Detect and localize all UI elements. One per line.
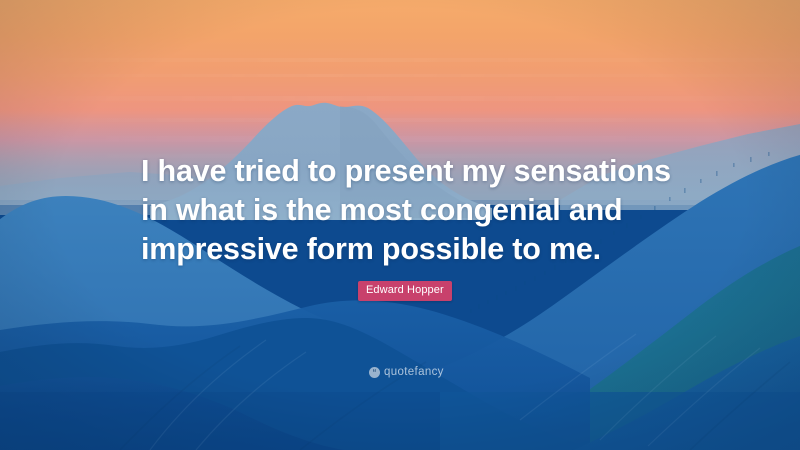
quote-line-1: I have tried to present my sensations — [141, 152, 681, 191]
quote-text: I have tried to present my sensations in… — [141, 152, 681, 269]
quote-line-2: in what is the most congenial and — [141, 191, 681, 230]
quote-image-canvas: I have tried to present my sensations in… — [0, 0, 800, 450]
quote-line-3: impressive form possible to me. — [141, 230, 681, 269]
quote-mark-icon: “ — [369, 367, 380, 378]
quote-mark-glyph: “ — [373, 369, 377, 377]
quote-overlay: I have tried to present my sensations in… — [0, 0, 800, 450]
watermark[interactable]: “ quotefancy — [369, 366, 444, 378]
watermark-label: quotefancy — [384, 366, 444, 378]
author-badge[interactable]: Edward Hopper — [358, 281, 452, 301]
